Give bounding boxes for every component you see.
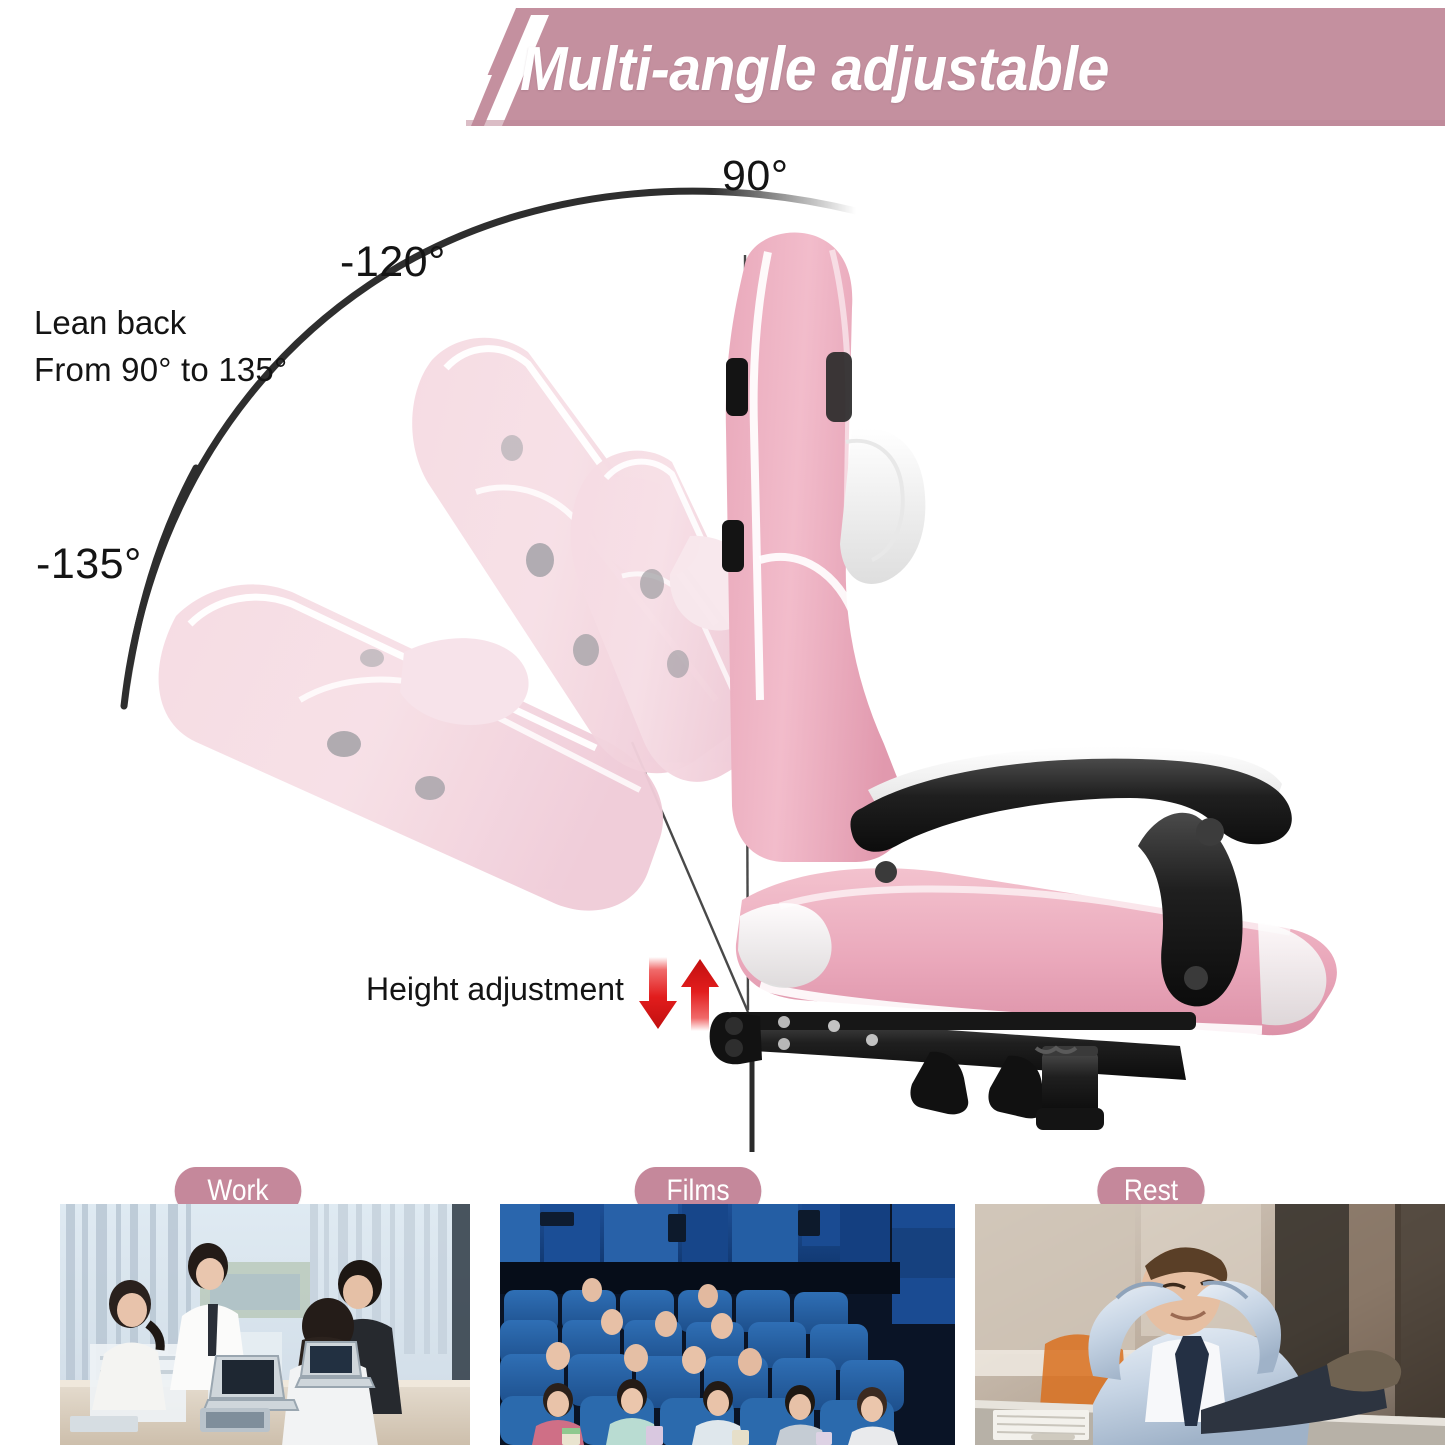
scenario-label-rest: Rest xyxy=(1124,1174,1178,1208)
scenario-strip: Work Films Rest xyxy=(0,1160,1445,1445)
scenario-photo-films xyxy=(500,1204,955,1445)
height-adjust-arrows xyxy=(637,955,721,1033)
scenario-photo-rest xyxy=(975,1204,1445,1445)
arrow-down-icon xyxy=(639,957,677,1029)
arrow-up-icon xyxy=(681,959,719,1031)
chair-main-90 xyxy=(710,233,1337,1130)
scenario-label-films: Films xyxy=(666,1174,729,1208)
scenario-label-work: Work xyxy=(207,1174,268,1208)
scenario-photo-work xyxy=(60,1204,470,1445)
height-adjustment-label: Height adjustment xyxy=(366,971,624,1008)
